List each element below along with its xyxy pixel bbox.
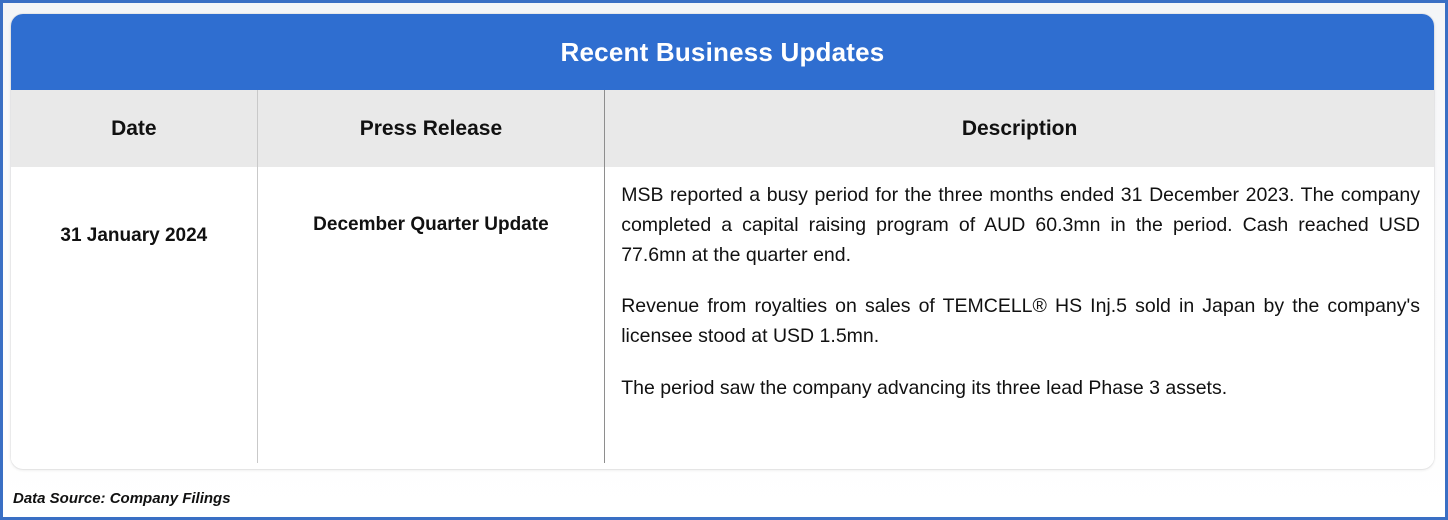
updates-table: Date Press Release Description 31 Januar… [11, 90, 1434, 463]
column-header-date: Date [11, 90, 257, 167]
data-source-note: Data Source: Company Filings [13, 490, 231, 507]
table-header-row: Date Press Release Description [11, 90, 1434, 167]
table-title: Recent Business Updates [561, 37, 885, 68]
updates-table-card: Recent Business Updates Date Press Relea… [11, 14, 1434, 469]
cell-description: MSB reported a busy period for the three… [605, 167, 1434, 463]
figure-canvas: Recent Business Updates Date Press Relea… [0, 0, 1448, 520]
cell-press-release: December Quarter Update [258, 167, 605, 463]
description-paragraph-1: MSB reported a busy period for the three… [621, 181, 1420, 270]
column-header-description: Description [605, 90, 1434, 167]
table-row: 31 January 2024 December Quarter Update … [11, 167, 1434, 463]
description-paragraph-2: Revenue from royalties on sales of TEMCE… [621, 292, 1420, 352]
description-paragraph-3: The period saw the company advancing its… [621, 374, 1420, 404]
table-title-bar: Recent Business Updates [11, 14, 1434, 90]
column-header-press-release: Press Release [258, 90, 605, 167]
cell-date: 31 January 2024 [11, 167, 257, 463]
